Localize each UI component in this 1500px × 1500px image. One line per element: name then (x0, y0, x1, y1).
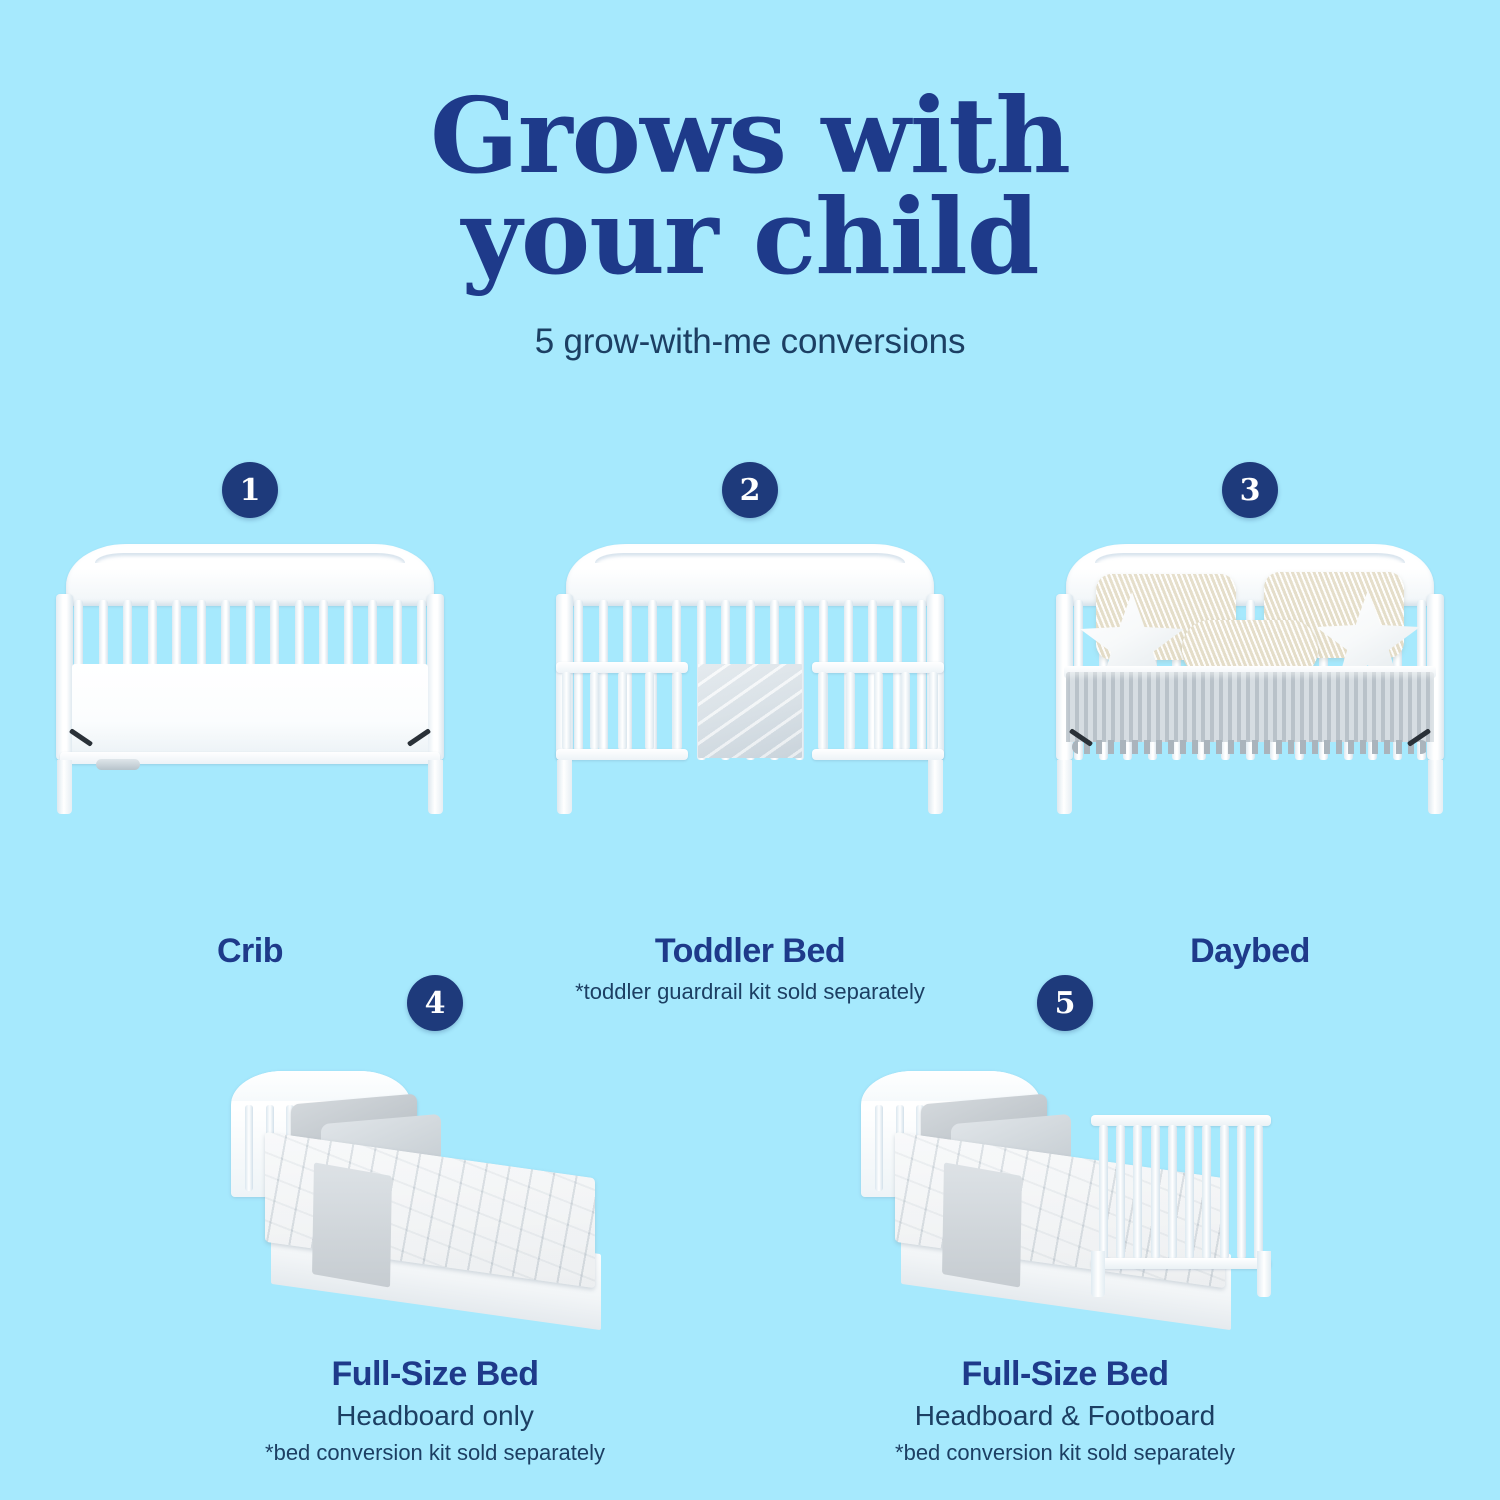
daybed-leg-right (1428, 760, 1443, 814)
conversion-title: Full-Size Bed (120, 1355, 750, 1394)
page-title: Grows with your child (0, 86, 1500, 288)
bed5-throw-blanket (942, 1162, 1022, 1287)
conversion-subtitle: Headboard only (120, 1400, 750, 1432)
step-badge-4: 4 (407, 975, 463, 1031)
daybed-icon (1050, 544, 1450, 814)
conversion-card-full-size-bed-headboard[interactable]: 4 Full-Size Bed Headboard only *bed conv… (120, 975, 750, 1455)
toddler-guardrail-right (812, 662, 944, 760)
step-badge-5: 5 (1037, 975, 1093, 1031)
conversions-row-bottom: 4 Full-Size Bed Headboard only *bed conv… (0, 975, 1500, 1455)
page-title-line-1: Grows with (0, 86, 1500, 187)
crib-leg-left (57, 760, 72, 814)
crib-frame (50, 594, 450, 760)
conversions-row-top: 1 Crib 2 (0, 462, 1500, 962)
crib-post-right (427, 594, 444, 760)
full-size-bed-headboard-icon (225, 1063, 645, 1293)
conversion-title: Daybed (1000, 932, 1500, 971)
conversion-title: Full-Size Bed (750, 1355, 1380, 1394)
toddler-bed-bedding (698, 664, 802, 758)
toddler-bed-leg-left (557, 760, 572, 814)
brand-logo-plate (96, 759, 140, 770)
full-size-bed-headboard-footboard-icon (855, 1063, 1275, 1293)
conversion-title: Crib (0, 932, 500, 971)
conversion-caption: Full-Size Bed Headboard only *bed conver… (120, 1355, 750, 1466)
toddler-bed-icon (550, 544, 950, 814)
step-badge-3: 3 (1222, 462, 1278, 518)
page-header: Grows with your child 5 grow-with-me con… (0, 0, 1500, 362)
crib-mattress (72, 664, 428, 760)
conversion-caption: Crib (0, 932, 500, 971)
step-badge-2: 2 (722, 462, 778, 518)
page-subtitle: 5 grow-with-me conversions (0, 322, 1500, 362)
crib-icon (50, 544, 450, 814)
daybed-pom-fringe (1072, 740, 1428, 754)
toddler-bed-leg-right (928, 760, 943, 814)
bed5-footboard (1091, 1115, 1271, 1297)
conversion-subtitle: Headboard & Footboard (750, 1400, 1380, 1432)
daybed-leg-left (1057, 760, 1072, 814)
conversion-caption: Daybed (1000, 932, 1500, 971)
conversion-caption: Full-Size Bed Headboard & Footboard *bed… (750, 1355, 1380, 1466)
conversion-card-crib[interactable]: 1 Crib (0, 462, 500, 962)
toddler-guardrail-left (556, 662, 688, 760)
step-badge-1: 1 (222, 462, 278, 518)
crib-leg-right (428, 760, 443, 814)
conversion-title: Toddler Bed (500, 932, 1000, 971)
conversion-card-toddler-bed[interactable]: 2 (500, 462, 1000, 962)
conversion-note: *bed conversion kit sold separately (120, 1440, 750, 1466)
crib-post-left (56, 594, 73, 760)
conversion-card-full-size-bed-headboard-footboard[interactable]: 5 Full-Size Bed (750, 975, 1380, 1455)
page-title-line-2: your child (0, 187, 1500, 288)
bed4-throw-blanket (312, 1162, 392, 1287)
conversion-note: *bed conversion kit sold separately (750, 1440, 1380, 1466)
conversion-card-daybed[interactable]: 3 (1000, 462, 1500, 962)
daybed-blanket (1066, 672, 1434, 742)
